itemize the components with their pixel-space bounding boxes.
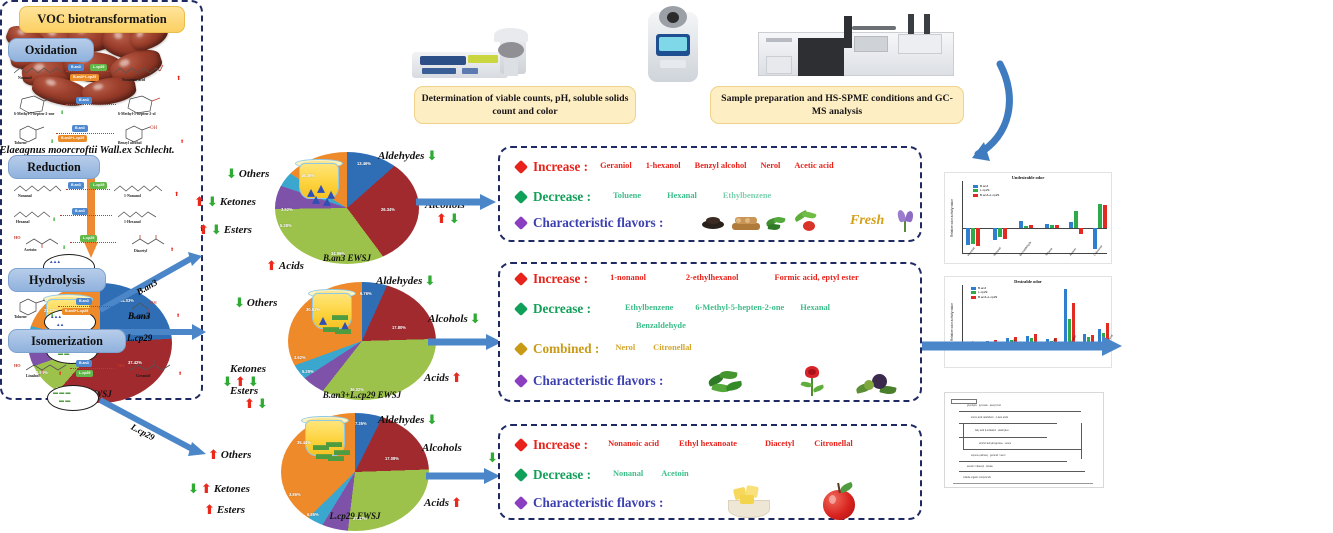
decrease-label: Decrease : [533,468,591,481]
product-up-arrow: ⬆ [176,314,180,319]
pct-acids: 34.95% [331,252,345,256]
chem-item: Acetic acid [794,162,833,170]
chem-item: Nerol [761,162,781,170]
cat-alcohols-lcp29: Alcohols [422,443,462,454]
product-up-arrow: ⬆ [176,76,181,82]
enzyme-tag: B.an3 [68,182,84,189]
section-oxidation-title: Oxidation [8,38,94,62]
enzyme-tag: B.an3 [68,64,84,71]
chem-item: Nonanoic acid [608,440,659,448]
section-isomerization-title: Isomerization [8,329,126,353]
charts-to-voc-arrow [920,332,1124,360]
flavors-label: Characteristic flavors : [533,216,663,229]
increase-label: Increase : [533,160,588,173]
chem-item: Toluene [613,192,641,200]
enzyme-tag: B.an3 [72,208,88,215]
xtick: Nonanal [993,247,1002,257]
pct-others: 30.51% [306,308,320,312]
chem-item: Acetoin [661,470,688,478]
pct-esters: 6.85% [307,513,319,517]
bar [1079,228,1083,234]
arrow-label-mixed-lcp29: L.cp29 [127,334,152,343]
increase-row: Increase : Geraniol 1-hexanol Benzyl alc… [516,160,834,173]
substrate-down-arrow: ⬇ [60,111,64,116]
cat-ketones-ban3: ⬆⬇Ketones [194,196,256,209]
pct-esters: 5.29% [302,370,314,374]
cat-acids-ban3: ⬆Acids [266,260,304,273]
product-up-arrow: ⬆ [170,248,174,253]
legend-entry: B.an3 [978,286,986,290]
cat-label: Others [247,298,278,309]
reaction-methylheptenone: 6-Methyl-5-hepten-2-one ⬇ B.an3 6-Methyl… [14,95,192,121]
flavors-row: Characteristic flavors : [516,496,663,509]
mini-chart-legend: B.an3 L.cp29 B.an3+L.cp29 [973,184,999,197]
bar [1103,205,1107,228]
cat-label: Esters [217,505,245,516]
bar [1074,211,1078,228]
svg-text:OH: OH [150,300,157,305]
substrate-down-arrow: ⬇ [50,314,54,319]
mini-chart-ylabel: Relative odor activity value [951,199,954,237]
cat-others-mixed: ⬇Others [234,297,277,310]
enzyme-tag: L.cp29 [90,182,107,189]
cat-others-lcp29: ⬆Others [208,449,251,462]
product-label: 6-Methyl-5-hepten-2-ol [118,113,156,117]
bar [1050,225,1054,228]
mini-chart-title: Desirable odor [945,280,1111,284]
product-label: Acetic acid [132,316,150,320]
wood-icon [732,214,760,232]
increase-row: Increase : Nonanoic acid Ethyl hexanoate… [516,438,853,451]
pct-alcohols: 17.80% [392,326,406,330]
cat-alcohols-lcp29-trend: ⬇ [487,452,498,465]
legend-entry: B.an3+L.cp29 [978,295,997,299]
cat-aldehydes-ban3: Aldehydes⬇ [378,150,437,163]
plum-icon [856,370,896,398]
chem-item: Ethylbenzene [625,304,673,312]
substrate-up-arrow: ⬆ [58,372,62,377]
flavors-row: Characteristic flavors : [516,216,663,229]
flavors-row: Characteristic flavors : [516,374,663,387]
cat-label: Aldehydes [378,151,424,162]
black-tea-icon [700,214,726,232]
legend-entry: L.cp29 [978,290,987,294]
chem-item: Citronellal [814,440,852,448]
cat-label: Others [221,450,252,461]
cat-esters-mixed-trend: ⬆⬇ [244,398,268,411]
herb-icon [764,214,788,232]
bar [976,228,980,246]
cat-label: Aldehydes [378,415,424,426]
product-label: Benzyl alcohol [118,142,142,146]
chem-item: Benzyl alcohol [695,162,747,170]
ban3-to-box-arrow [414,192,498,212]
substrate-label: Linalool [26,375,40,379]
cat-alcohols-ban3-trend: ⬆⬇ [436,213,460,226]
pct-aldehydes: 7.35% [355,422,367,426]
colorimeter-icon [412,22,534,84]
pct-aldehydes: 13.46% [357,162,371,166]
voc-panel-title: VOC biotransformation [19,6,185,33]
donut-lcp29: ▬ ▬ ▬ ▬ ▬ L.cp29 EWSJ 7.35% 17.08% 27.47… [277,413,433,531]
xtick: Toluene [1045,247,1053,256]
substrate-label: Nonanal [18,77,32,81]
donut-mixed: ▴ ▬ ▴ ▬ ▬ B.an3+L.cp29 EWSJ 6.76% 17.80%… [284,282,440,400]
pct-aldehydes: 6.76% [360,292,372,296]
pct-esters: 5.38% [280,224,292,228]
reaction-toluene-to-benzyl-alcohol: Toluene ⬇ B.an3 B.an3+L.cp29 OH Benzyl a… [14,124,192,150]
svg-text:OH: OH [150,126,158,131]
section-hydrolysis-title: Hydrolysis [8,268,106,292]
physchem-caption: Determination of viable counts, pH, solu… [414,86,636,124]
enzyme-tag: B.an3+L.cp29 [70,74,99,81]
xtick: Hexanal [967,247,976,257]
product-label: Nonanoic acid [122,79,145,83]
substrate-label: Hexanal [16,221,30,225]
product-label: 1-Hexanol [124,221,141,225]
decrease-row: Decrease : Toluene Hexanal Ethylbenzene [516,190,771,203]
product-up-arrow: ⬆ [180,140,184,145]
enzyme-tag: L.cp29 [76,370,93,377]
cat-ketones-lcp29: ⬇⬆Ketones [188,483,250,496]
chem-item: Ethylbenzene [723,192,771,200]
bar [1069,222,1073,228]
increase-label: Increase : [533,272,588,285]
substrate-down-arrow: ⬇ [50,140,54,145]
hydroxyl-label: HO [14,364,21,368]
cat-ketones-mixed-trend: ⬇⬆⬇ [222,376,259,389]
reaction-nonanal-to-1-nonanol: Nonanal B.an3 L.cp29 1-Nonanol ⬆ [14,182,192,206]
enzyme-tag: B.an3+L.cp29 [62,308,91,315]
chem-item: 1-nonanol [610,274,646,282]
pct-ketones: 3.52% [281,208,293,212]
cat-label: Acids [424,373,449,384]
hydroxyl-label-product: HO [118,364,125,368]
bar [998,228,1002,237]
reaction-nonanal-to-nonanoic-acid: Nonanal B.an3 L.cp29 B.an3+L.cp29 Nonano… [14,64,192,90]
substrate-down-arrow: ⬇ [52,218,56,223]
substrate-label: Acetoin [24,249,36,253]
mixed-to-box-arrow [426,332,504,352]
pct-ketones: 3.62% [294,356,306,360]
chem-item: Diacetyl [765,440,794,448]
legend-entry: L.cp29 [980,188,989,192]
enzyme-tag: B.an3 [72,125,88,132]
mixed-results-box: Increase : 1-nonanol 2-ethylhexanol Form… [498,262,922,402]
lavender-icon [896,210,918,234]
combined-row: Combined : Nerol Citronellal [516,342,692,355]
cat-others-ban3: ⬇Others [226,168,269,181]
chem-item: Nonanal [613,470,643,478]
chem-item: Benzaldehyde [636,322,686,330]
chem-item: Citronellal [653,344,691,352]
bar [1055,225,1059,228]
chem-item: Formic acid, eptyl ester [774,274,858,282]
cat-aldehydes-mixed: Aldehydes⬇ [376,275,435,288]
combined-label: Combined : [533,342,599,355]
product-label: Diacetyl [134,250,147,254]
cat-acids-lcp29: Acids⬆ [424,497,462,510]
inoculation-arrow-lcp29 [96,392,208,458]
cat-label: Acids [279,261,304,272]
cat-ketones-mixed: Ketones [230,364,266,375]
butter-icon [728,484,770,518]
enzyme-tag: B.an3 [76,97,92,104]
refractometer-icon [648,6,698,82]
mini-chart-legend: B.an3 L.cp29 B.an3+L.cp29 [971,286,997,299]
increase-label: Increase : [533,438,588,451]
chem-item: Nerol [615,344,635,352]
substrate-label: Toluene [14,142,27,146]
xtick: Benzaldehyde [1019,241,1032,257]
donut-ban3: ▴ ▴ ▴ ▴ ▴ B.an3 EWSJ 13.46% 26.34% 34.95… [271,152,423,264]
bar [993,228,997,240]
cat-label: Esters [224,225,252,236]
rose-icon [800,366,826,398]
flavors-label: Characteristic flavors : [533,374,663,387]
pct-alcohols: 17.08% [385,457,399,461]
bar [1045,224,1049,228]
flavors-label: Characteristic flavors : [533,496,663,509]
enzyme-tag: B.an3 [76,298,92,305]
pct-alcohols: 26.34% [381,208,395,212]
decrease-label: Decrease : [533,190,591,203]
chem-item: Geraniol [600,162,632,170]
pct-ketones: 3.86% [289,493,301,497]
decrease-row-cont: Benzaldehyde [636,322,686,330]
cat-label: Others [239,169,270,180]
cat-label: Alcohols [428,314,468,325]
reaction-acetoin-to-diacetyl: HO Acetoin ⬇ L.cp29 Diacetyl ⬆ [14,234,192,260]
enzyme-tag: B.an3+L.cp29 [58,135,87,142]
decrease-label: Decrease : [533,302,591,315]
reaction-toluene-to-acetic-acid: Toluene ⬇ B.an3 B.an3+L.cp29 OH Acetic a… [14,296,192,324]
legend-entry: B.an3+L.cp29 [980,193,999,197]
bar [1029,225,1033,228]
cat-label: Acids [424,498,449,509]
reaction-linalool-to-geraniol: HO Linalool ⬆ B.an3 L.cp29 HO Geraniol ⬆ [14,358,192,386]
apple-icon [822,482,856,520]
herb-icon [706,368,744,398]
mini-chart-undesirable: Undesirable odor Relative odor activity … [944,172,1112,264]
cat-label: Ketones [230,364,266,375]
chem-item: Hexanal [800,304,830,312]
decrease-row: Decrease : Ethylbenzene 6-Methyl-5-hepte… [516,302,830,315]
pct-others: 16.35% [301,174,315,178]
pct-acids: 36.02% [350,388,364,392]
cat-label: Ketones [214,484,250,495]
mini-chart-title: Undesirable odor [945,176,1111,180]
chem-item: Ethyl hexanoate [679,440,737,448]
petri-dish-lcp29: ▬ ▬ ▬ ▬ ▬ [47,385,99,411]
substrate-label: Nonanal [18,195,32,199]
substrate-label: 6-Methyl-5-hepten-2-one [14,113,54,117]
ban3-results-box: Increase : Geraniol 1-hexanol Benzyl alc… [498,146,922,242]
chem-item: Hexanal [667,192,697,200]
reaction-hexanal-to-1-hexanol: Hexanal ⬇ B.an3 1-Hexanol [14,208,192,232]
cat-label: Ketones [220,197,256,208]
metabolic-pathway-sketch: glycolysis · pyruvate · acetyl-CoA amino… [944,392,1104,488]
chem-item: 2-ethylhexanol [686,274,739,282]
hydroxyl-label: HO [14,236,21,240]
bar [966,228,970,245]
enzyme-tag: B.an3 [76,360,92,367]
lcp29-to-box-arrow [424,466,502,486]
section-reduction-title: Reduction [8,155,100,179]
product-up-arrow: ⬆ [178,372,182,377]
cat-aldehydes-lcp29: Aldehydes⬇ [378,414,437,427]
substrate-label: Toluene [14,316,27,320]
product-up-arrow: ⬆ [174,192,179,198]
fresh-flavor-text: Fresh [850,214,884,228]
bar [1098,204,1102,228]
cat-label: Aldehydes [376,276,422,287]
bar [1093,228,1097,249]
bar [1024,226,1028,228]
pct-acids: 27.47% [353,517,367,521]
pct-others: 35.44% [297,441,311,445]
substrate-down-arrow: ⬇ [62,246,66,251]
bar [1003,228,1007,239]
increase-row: Increase : 1-nonanol 2-ethylhexanol Form… [516,272,859,285]
vegetable-icon [794,212,820,232]
product-label: Geraniol [136,375,150,379]
chem-item: 1-hexanol [646,162,681,170]
product-label: 1-Nonanol [124,195,141,199]
cat-esters-ban3: ⬆⬇Esters [198,224,252,237]
bar [971,228,975,244]
enzyme-tag: L.cp29 [80,235,97,242]
cat-esters-lcp29: ⬆Esters [204,504,245,517]
cat-acids-mixed: Acids⬆ [424,372,462,385]
cat-alcohols-mixed: Alcohols⬇ [428,313,481,326]
legend-entry: B.an3 [980,184,988,188]
enzyme-tag: L.cp29 [90,64,107,71]
decrease-row: Decrease : Nonanal Acetoin [516,468,689,481]
bar [1019,221,1023,228]
lcp29-results-box: Increase : Nonanoic acid Ethyl hexanoate… [498,424,922,520]
chem-item: 6-Methyl-5-hepten-2-one [695,304,784,312]
cat-label: Alcohols [422,443,462,454]
